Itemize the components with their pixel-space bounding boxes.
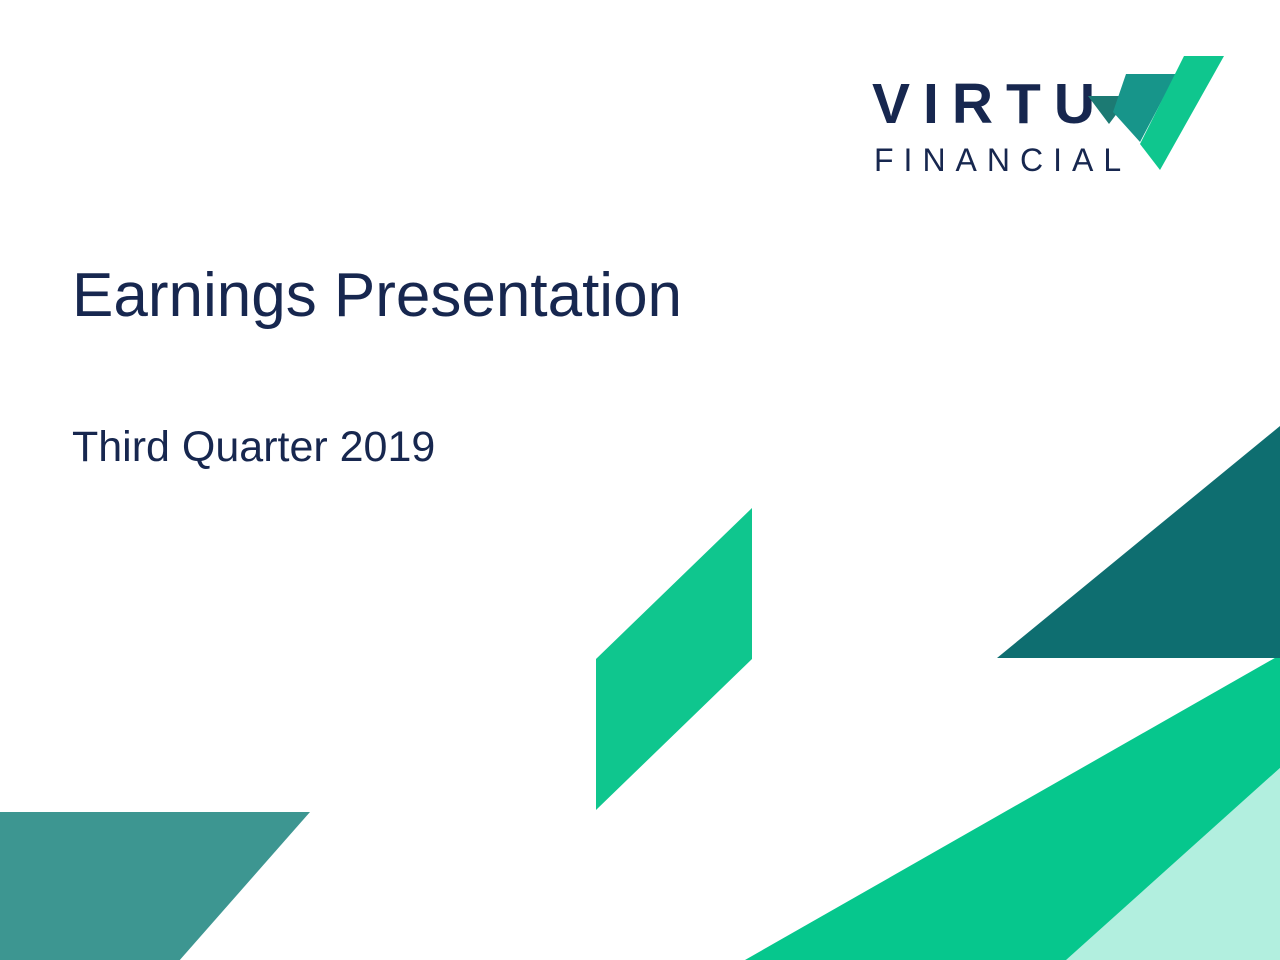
virtu-checkmark-icon [1084, 52, 1228, 174]
page-subtitle: Third Quarter 2019 [72, 424, 435, 471]
page-title: Earnings Presentation [72, 262, 682, 330]
bottom-left-trapezoid-decoration [0, 812, 310, 960]
top-right-teal-triangle-decoration [997, 426, 1280, 658]
bottom-right-mint-triangle-decoration [1055, 735, 1280, 960]
logo-wordmark-text: VIRTU [872, 76, 1108, 133]
center-parallelogram-decoration [596, 508, 752, 810]
slide-canvas: VIRTU FINANCIAL Earnings Presentation Th… [0, 0, 1280, 960]
green-diagonal-band-decoration [745, 655, 1280, 960]
virtu-financial-logo: VIRTU FINANCIAL [872, 52, 1228, 174]
